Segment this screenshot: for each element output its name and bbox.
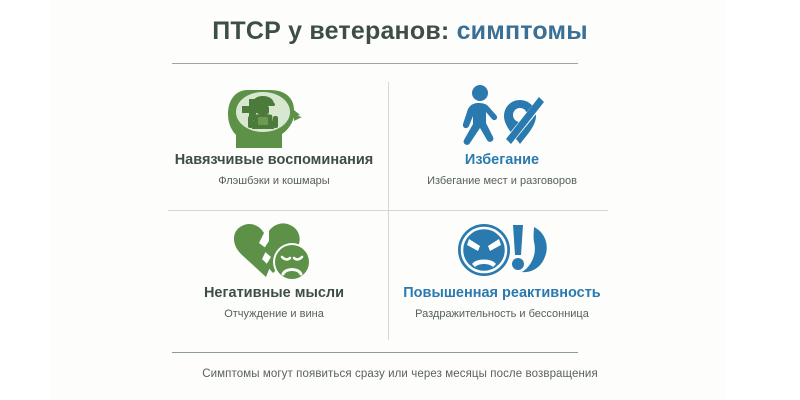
angry-face-exclamation-moon-icon (452, 215, 552, 285)
quadrant-negative-thoughts[interactable]: Негативные мысли Отчуждение и вина (160, 211, 388, 343)
quadrant-hyperarousal[interactable]: Повышенная реактивность Раздражительност… (388, 211, 616, 343)
quadrant-title: Избегание (465, 152, 539, 169)
title-divider-rule (172, 63, 578, 64)
title-accent-text: симптомы (457, 17, 588, 45)
head-soldier-memory-icon (226, 82, 322, 152)
walking-person-no-location-icon (454, 82, 550, 152)
symptom-grid: Навязчивые воспоминания Флэшбэки и кошма… (160, 78, 616, 346)
quadrant-title: Навязчивые воспоминания (175, 152, 374, 169)
quadrant-subtitle: Отчуждение и вина (224, 308, 324, 321)
quadrant-subtitle: Раздражительность и бессонница (415, 308, 589, 321)
title-main-text: ПТСР у ветеранов: (212, 17, 449, 45)
quadrant-title: Повышенная реактивность (403, 285, 600, 302)
infographic-slide: ПТСР у ветеранов: симптомы (0, 0, 800, 400)
footer-divider-rule (172, 352, 578, 353)
quadrant-subtitle: Флэшбэки и кошмары (218, 175, 329, 188)
quadrant-title: Негативные мысли (204, 285, 344, 302)
footer-note: Симптомы могут появиться сразу или через… (0, 368, 800, 380)
broken-heart-sad-face-icon (226, 215, 322, 285)
quadrant-intrusive-memories[interactable]: Навязчивые воспоминания Флэшбэки и кошма… (160, 78, 388, 210)
quadrant-subtitle: Избегание мест и разговоров (427, 175, 577, 188)
quadrant-avoidance[interactable]: Избегание Избегание мест и разговоров (388, 78, 616, 210)
page-title: ПТСР у ветеранов: симптомы (0, 18, 800, 46)
